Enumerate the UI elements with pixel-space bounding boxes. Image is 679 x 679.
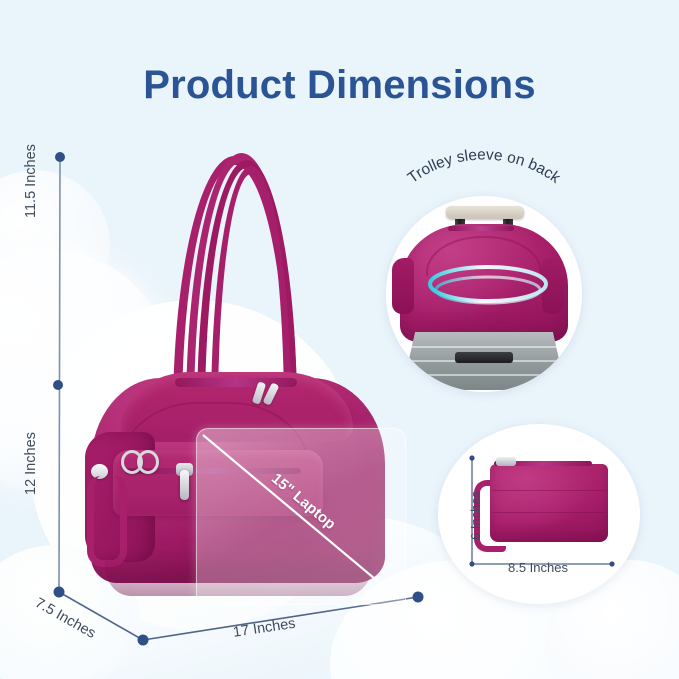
bag-side-pocket [392, 258, 414, 314]
svg-text:Trolley sleeve on back: Trolley sleeve on back [405, 148, 564, 187]
trolley-sleeve-inset [386, 196, 582, 392]
trolley-grip [446, 206, 524, 219]
laptop-compartment-overlay [196, 428, 406, 605]
suitcase-line [408, 346, 560, 348]
dimension-label-height-upper: 11.5 Inches [23, 144, 39, 218]
infographic-canvas: Product Dimensions 11.5 Inches 12 Inches… [0, 0, 679, 679]
pouch-height-label: 6 Inches [468, 491, 483, 540]
trolley-sleeve-glow-icon [424, 260, 552, 308]
pouch-width-label: 8.5 Inches [508, 560, 568, 575]
bag-zipper [448, 226, 514, 231]
trolley-crossbar [455, 352, 513, 363]
d-ring-icon [137, 450, 159, 474]
zipper-pull-icon [180, 470, 189, 500]
dimension-label-height-lower: 12 Inches [23, 432, 39, 495]
suitcase-line [404, 374, 564, 376]
laptop-diagonal-line [197, 429, 405, 604]
